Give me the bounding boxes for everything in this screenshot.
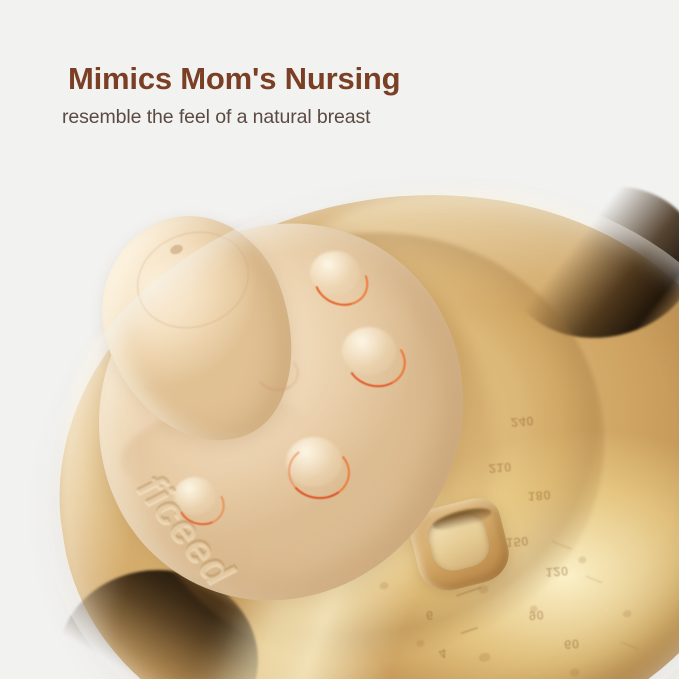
marketing-text-block: Mimics Mom's Nursing resemble the feel o… bbox=[0, 60, 679, 130]
product-photo: 240 210 180 150 120 90 60 8 6 4 bbox=[0, 175, 679, 679]
product-image-canvas: Mimics Mom's Nursing resemble the feel o… bbox=[0, 0, 679, 679]
page-title: Mimics Mom's Nursing bbox=[0, 60, 679, 98]
page-subtitle: resemble the feel of a natural breast bbox=[0, 98, 679, 130]
